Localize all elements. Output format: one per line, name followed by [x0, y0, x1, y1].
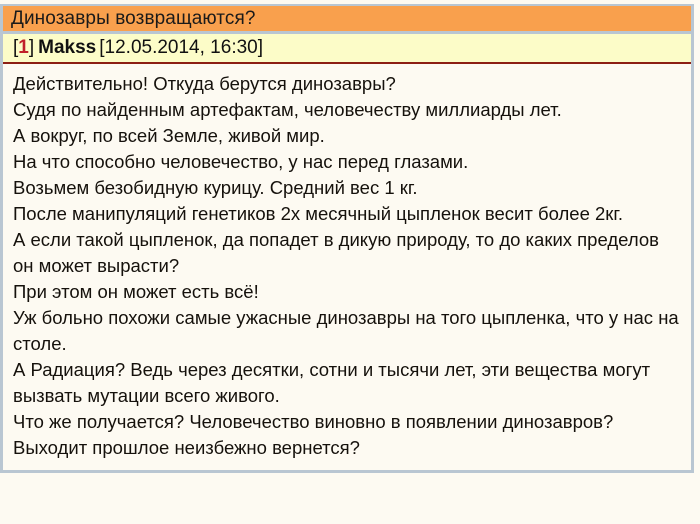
post-meta: [1]Makss[12.05.2014, 16:30]	[13, 38, 263, 58]
post-index[interactable]: [1]	[13, 37, 34, 58]
post: [1]Makss[12.05.2014, 16:30] Действительн…	[3, 34, 691, 473]
post-header: [1]Makss[12.05.2014, 16:30]	[3, 34, 691, 64]
thread-title: Динозавры возвращаются?	[11, 9, 256, 29]
forum-thread-page: Динозавры возвращаются? [1]Makss[12.05.2…	[0, 0, 700, 524]
post-body-text: Действительно! Откуда берутся динозавры?…	[13, 71, 681, 461]
post-index-close-bracket: ]	[29, 37, 34, 58]
post-body: Действительно! Откуда берутся динозавры?…	[3, 64, 691, 473]
post-index-number: 1	[18, 37, 29, 58]
thread-container: Динозавры возвращаются? [1]Makss[12.05.2…	[0, 4, 694, 473]
post-author-name[interactable]: Makss	[38, 37, 96, 58]
thread-title-bar: Динозавры возвращаются?	[3, 4, 691, 34]
post-timestamp: [12.05.2014, 16:30]	[99, 37, 263, 58]
